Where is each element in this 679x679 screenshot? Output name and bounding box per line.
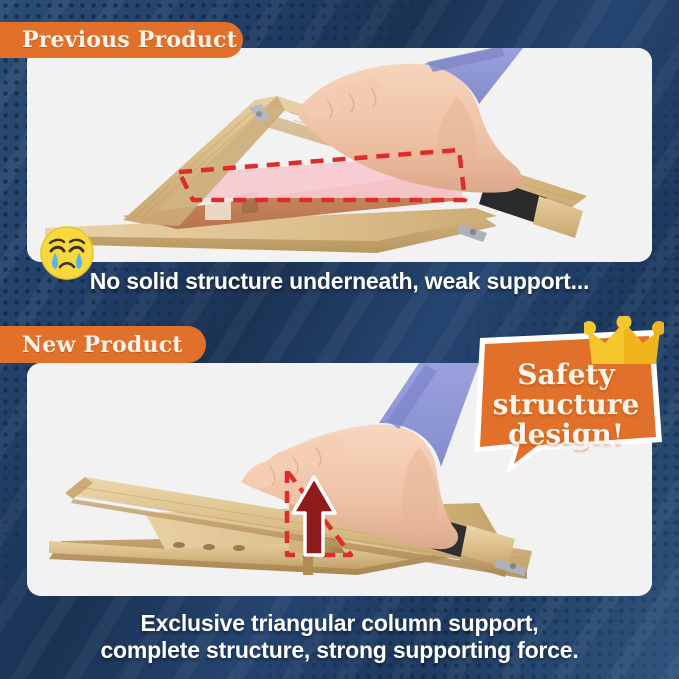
badge-previous-product: Previous Product xyxy=(0,22,243,58)
previous-product-caption: No solid structure underneath, weak supp… xyxy=(0,268,679,295)
safety-callout-bubble: Safety structure design! xyxy=(466,318,666,478)
callout-line-3: design! xyxy=(508,420,624,450)
crying-face-icon xyxy=(38,224,96,282)
badge-new-product: New Product xyxy=(0,326,206,363)
previous-product-photo-panel xyxy=(27,48,652,262)
callout-text: Safety structure design! xyxy=(466,318,666,478)
new-caption-line-1: Exclusive triangular column support, xyxy=(0,610,679,637)
previous-product-illustration xyxy=(27,48,652,262)
infographic-canvas: Previous Product No solid structure unde… xyxy=(0,0,679,679)
new-product-caption: Exclusive triangular column support, com… xyxy=(0,610,679,663)
callout-line-2: structure xyxy=(493,390,640,420)
callout-line-1: Safety xyxy=(517,360,614,390)
new-caption-line-2: complete structure, strong supporting fo… xyxy=(0,637,679,664)
